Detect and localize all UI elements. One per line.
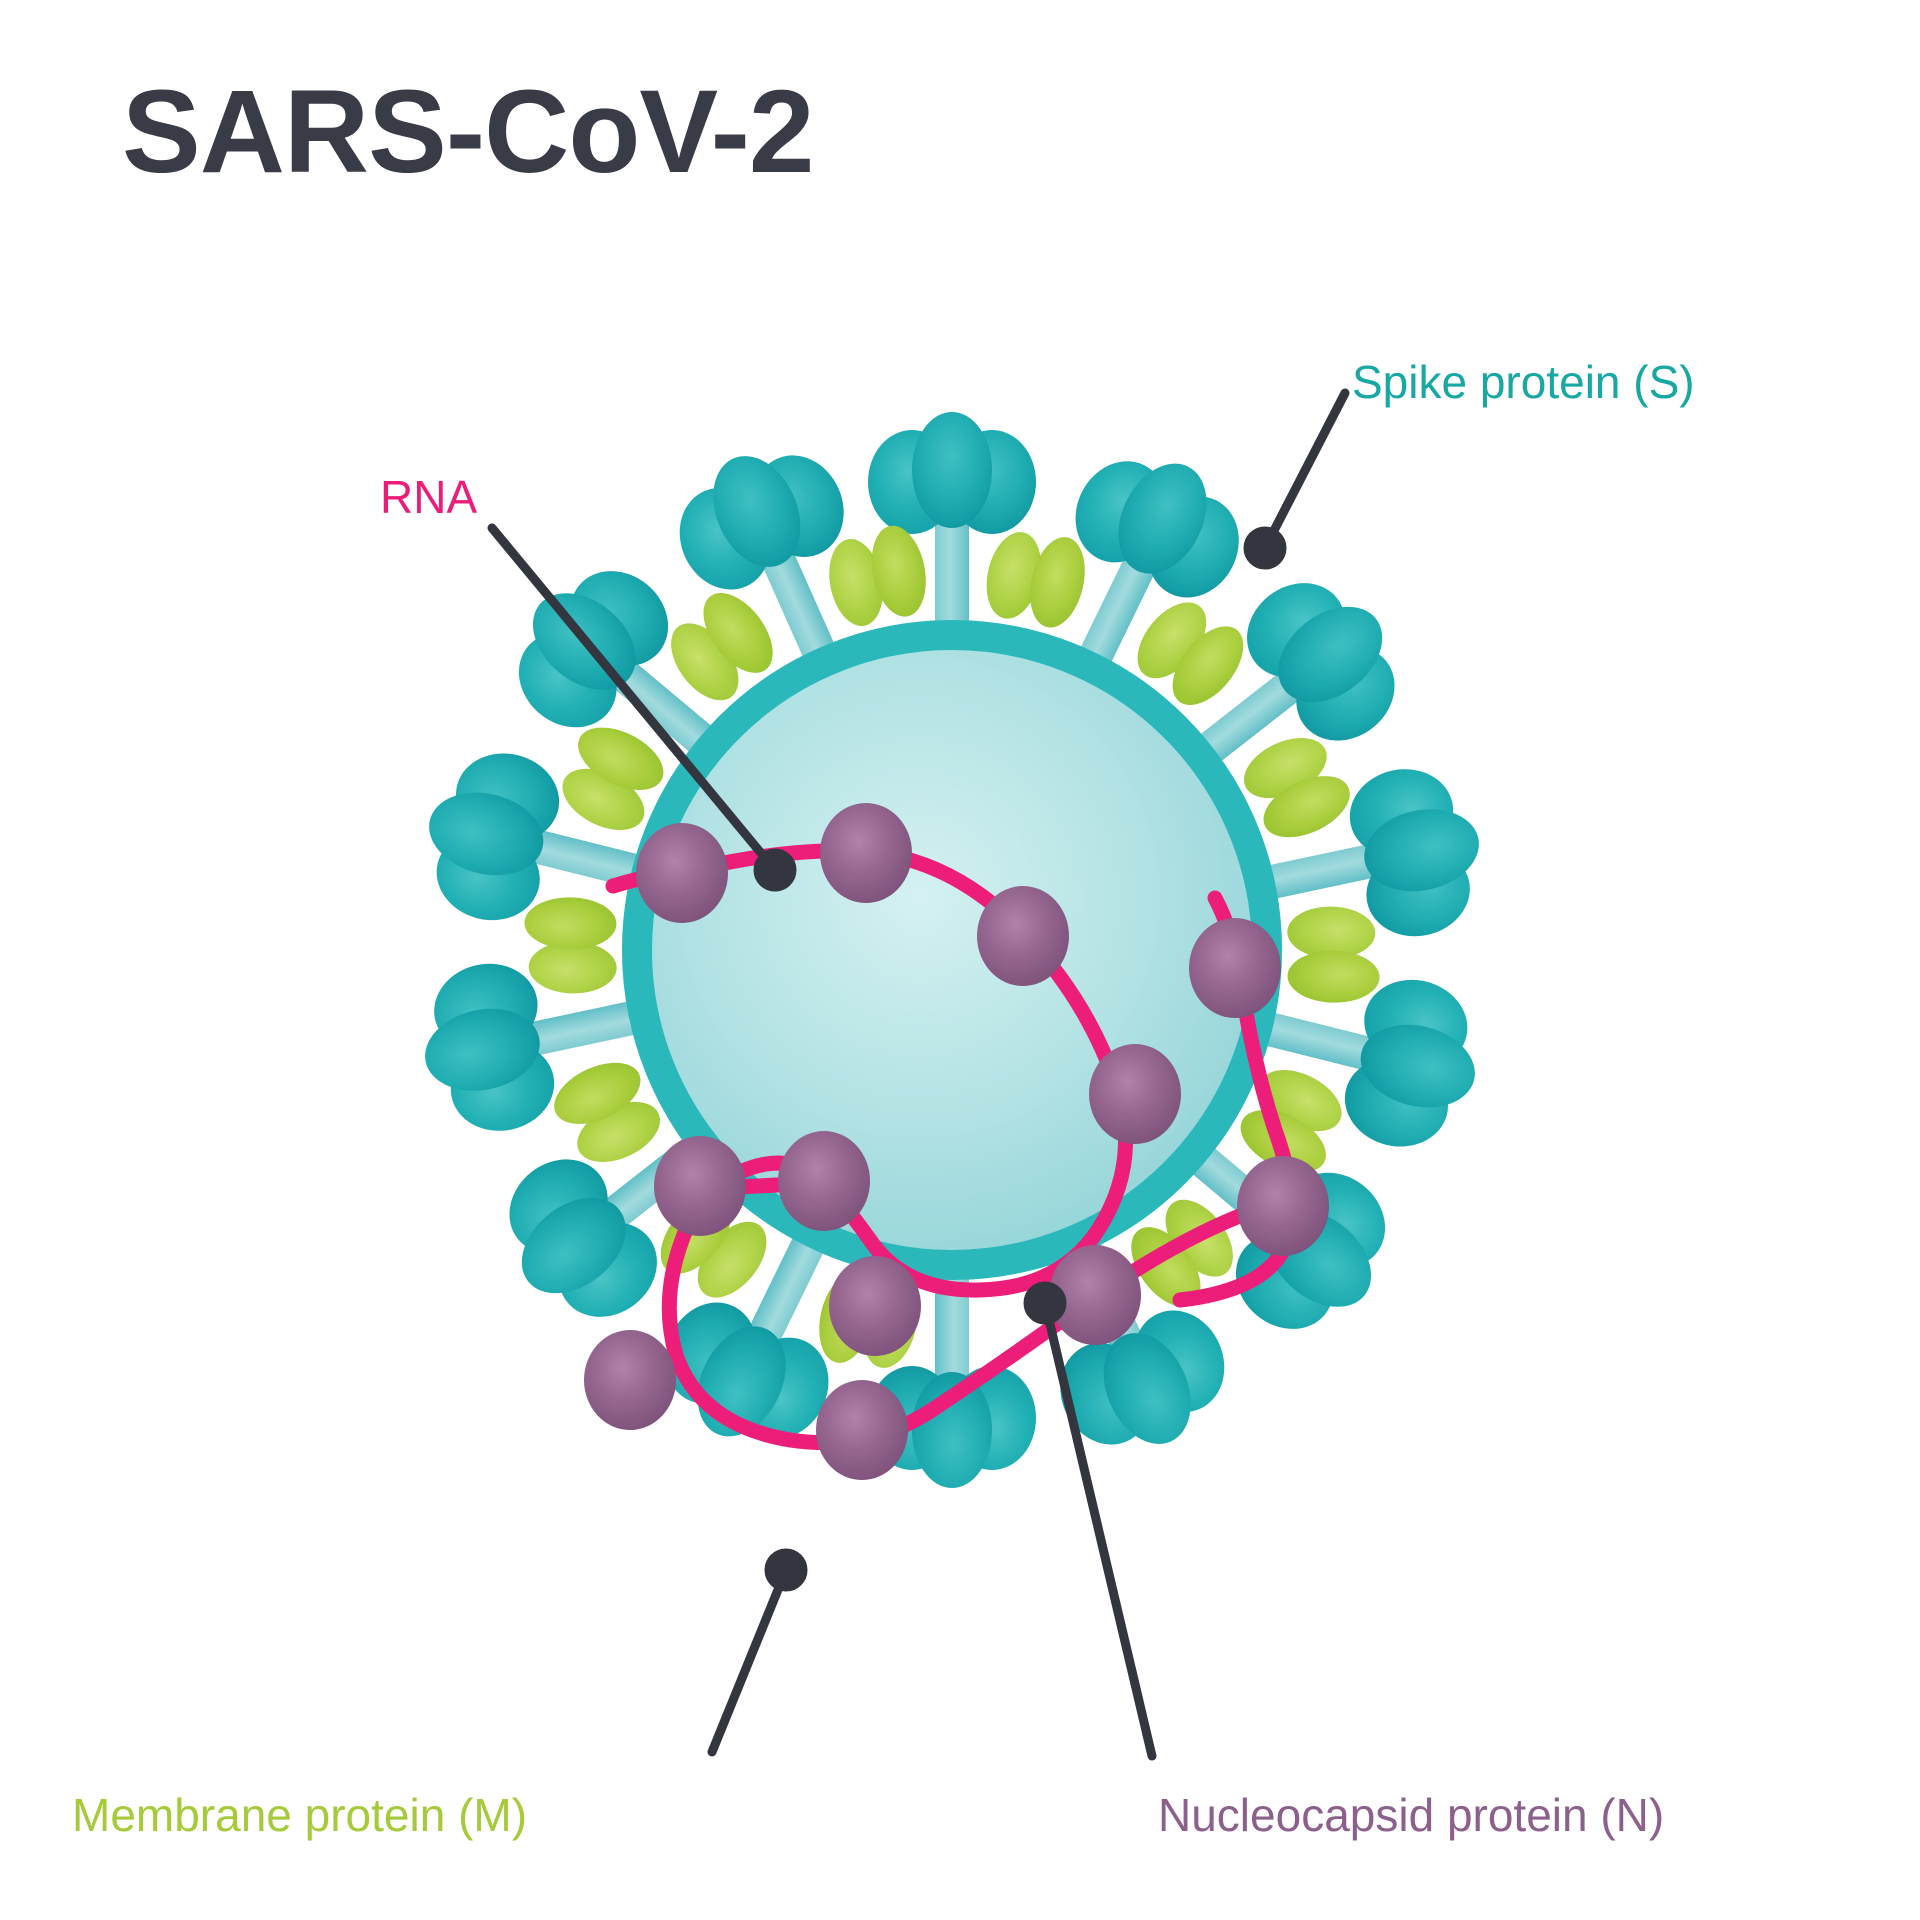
leader-dot-rna	[758, 853, 792, 887]
label-nucleocapsid-protein: Nucleocapsid protein (N)	[1158, 1788, 1664, 1842]
leader-dot-nucleocapsid	[1028, 1286, 1062, 1320]
nucleocapsid-protein	[829, 1256, 921, 1356]
leader-line-membrane	[712, 1570, 786, 1752]
nucleocapsid-protein	[654, 1136, 746, 1236]
nucleocapsid-protein	[977, 886, 1069, 986]
label-spike-protein: Spike protein (S)	[1352, 355, 1695, 409]
membrane-protein	[523, 897, 618, 995]
leader-dot-spike	[1248, 531, 1282, 565]
nucleocapsid-protein	[778, 1131, 870, 1231]
leader-dot-membrane	[769, 1553, 803, 1587]
leader-line-spike	[1265, 393, 1345, 548]
virion-illustration	[0, 0, 1920, 1920]
membrane-protein	[979, 522, 1093, 634]
nucleocapsid-protein	[820, 803, 912, 903]
nucleocapsid-protein	[584, 1330, 676, 1430]
membrane-protein	[1286, 906, 1381, 1004]
label-rna: RNA	[380, 470, 477, 524]
nucleocapsid-protein	[1189, 918, 1281, 1018]
label-membrane-protein: Membrane protein (M)	[72, 1788, 527, 1842]
nucleocapsid-protein	[1089, 1044, 1181, 1144]
diagram-canvas: SARS-CoV-2	[0, 0, 1920, 1920]
membrane-protein	[821, 521, 933, 631]
nucleocapsid-protein	[1237, 1156, 1329, 1256]
nucleocapsid-protein	[816, 1380, 908, 1480]
nucleocapsid-protein	[636, 823, 728, 923]
